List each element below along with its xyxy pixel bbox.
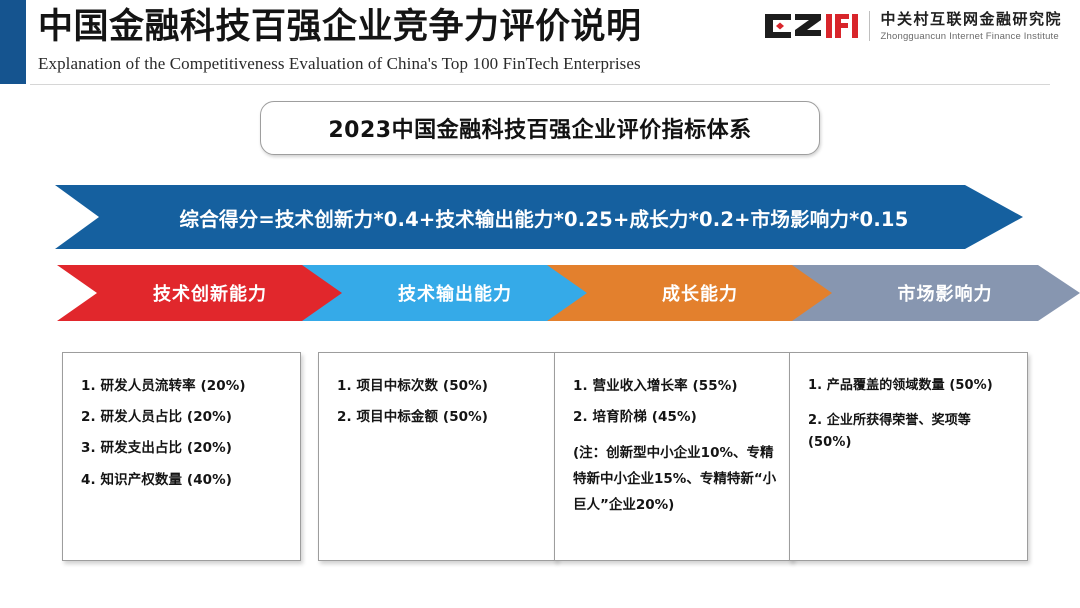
score-formula-text: 综合得分=技术创新力*0.4+技术输出能力*0.25+成长力*0.2+市场影响力… xyxy=(55,185,1023,249)
indicator-card-technical-output: 1. 项目中标次数 (50%) 2. 项目中标金额 (50%) xyxy=(318,352,557,561)
indicator-item: 1. 研发人员流转率 (20%) xyxy=(81,379,288,393)
organization-logo: 中关村互联网金融研究院 Zhongguancun Internet Financ… xyxy=(763,10,1062,42)
indicator-item: 1. 营业收入增长率 (55%) xyxy=(573,379,780,393)
indicator-item: 2. 研发人员占比 (20%) xyxy=(81,410,288,424)
logo-text-block: 中关村互联网金融研究院 Zhongguancun Internet Financ… xyxy=(880,10,1062,42)
indicator-item: 1. 项目中标次数 (50%) xyxy=(337,379,544,393)
category-chevron-technical-output[interactable]: 技术输出能力 xyxy=(302,265,590,321)
page-title-en: Explanation of the Competitiveness Evalu… xyxy=(38,54,738,74)
indicator-card-market-influence: 1. 产品覆盖的领域数量 (50%) 2. 企业所获得荣誉、奖项等 (50%) xyxy=(789,352,1028,561)
page-title-cn: 中国金融科技百强企业竞争力评价说明 xyxy=(38,6,738,50)
indicator-item: 2. 项目中标金额 (50%) xyxy=(337,410,544,424)
logo-name-cn: 中关村互联网金融研究院 xyxy=(880,10,1062,28)
category-label: 成长能力 xyxy=(644,280,738,306)
indicator-item: 2. 企业所获得荣誉、奖项等 (50%) xyxy=(808,410,1015,455)
czifi-logo-icon xyxy=(763,11,859,41)
header-accent-bar xyxy=(0,0,26,84)
framework-title-box: 2023中国金融科技百强企业评价指标体系 xyxy=(260,101,820,155)
slide-canvas: 中国金融科技百强企业竞争力评价说明 Explanation of the Com… xyxy=(0,0,1080,608)
category-chevron-growth[interactable]: 成长能力 xyxy=(547,265,835,321)
logo-divider xyxy=(869,11,870,41)
logo-name-en: Zhongguancun Internet Finance Institute xyxy=(880,31,1062,42)
indicator-item: 4. 知识产权数量 (40%) xyxy=(81,473,288,487)
category-chevron-technical-innovation[interactable]: 技术创新能力 xyxy=(57,265,345,321)
score-formula-banner: 综合得分=技术创新力*0.4+技术输出能力*0.25+成长力*0.2+市场影响力… xyxy=(55,185,1023,249)
category-label: 市场影响力 xyxy=(880,280,993,306)
indicator-note: (注：创新型中小企业10%、专精特新中小企业15%、专精特新“小巨人”企业20%… xyxy=(573,441,780,518)
indicator-item: 3. 研发支出占比 (20%) xyxy=(81,441,288,455)
indicator-card-technical-innovation: 1. 研发人员流转率 (20%) 2. 研发人员占比 (20%) 3. 研发支出… xyxy=(62,352,301,561)
indicator-item: 2. 培育阶梯 (45%) xyxy=(573,410,780,424)
indicator-item: 1. 产品覆盖的领域数量 (50%) xyxy=(808,379,1015,393)
indicator-card-growth: 1. 营业收入增长率 (55%) 2. 培育阶梯 (45%) (注：创新型中小企… xyxy=(554,352,793,561)
header-block: 中国金融科技百强企业竞争力评价说明 Explanation of the Com… xyxy=(38,6,738,74)
indicator-card-row: 1. 研发人员流转率 (20%) 2. 研发人员占比 (20%) 3. 研发支出… xyxy=(0,352,1080,567)
category-chevron-market-influence[interactable]: 市场影响力 xyxy=(792,265,1080,321)
category-label: 技术输出能力 xyxy=(380,280,512,306)
framework-title-text: 2023中国金融科技百强企业评价指标体系 xyxy=(328,112,751,144)
category-label: 技术创新能力 xyxy=(135,280,267,306)
category-chevron-row: 技术创新能力 技术输出能力 成长能力 市场影响力 xyxy=(0,265,1080,321)
header-divider xyxy=(30,84,1050,85)
